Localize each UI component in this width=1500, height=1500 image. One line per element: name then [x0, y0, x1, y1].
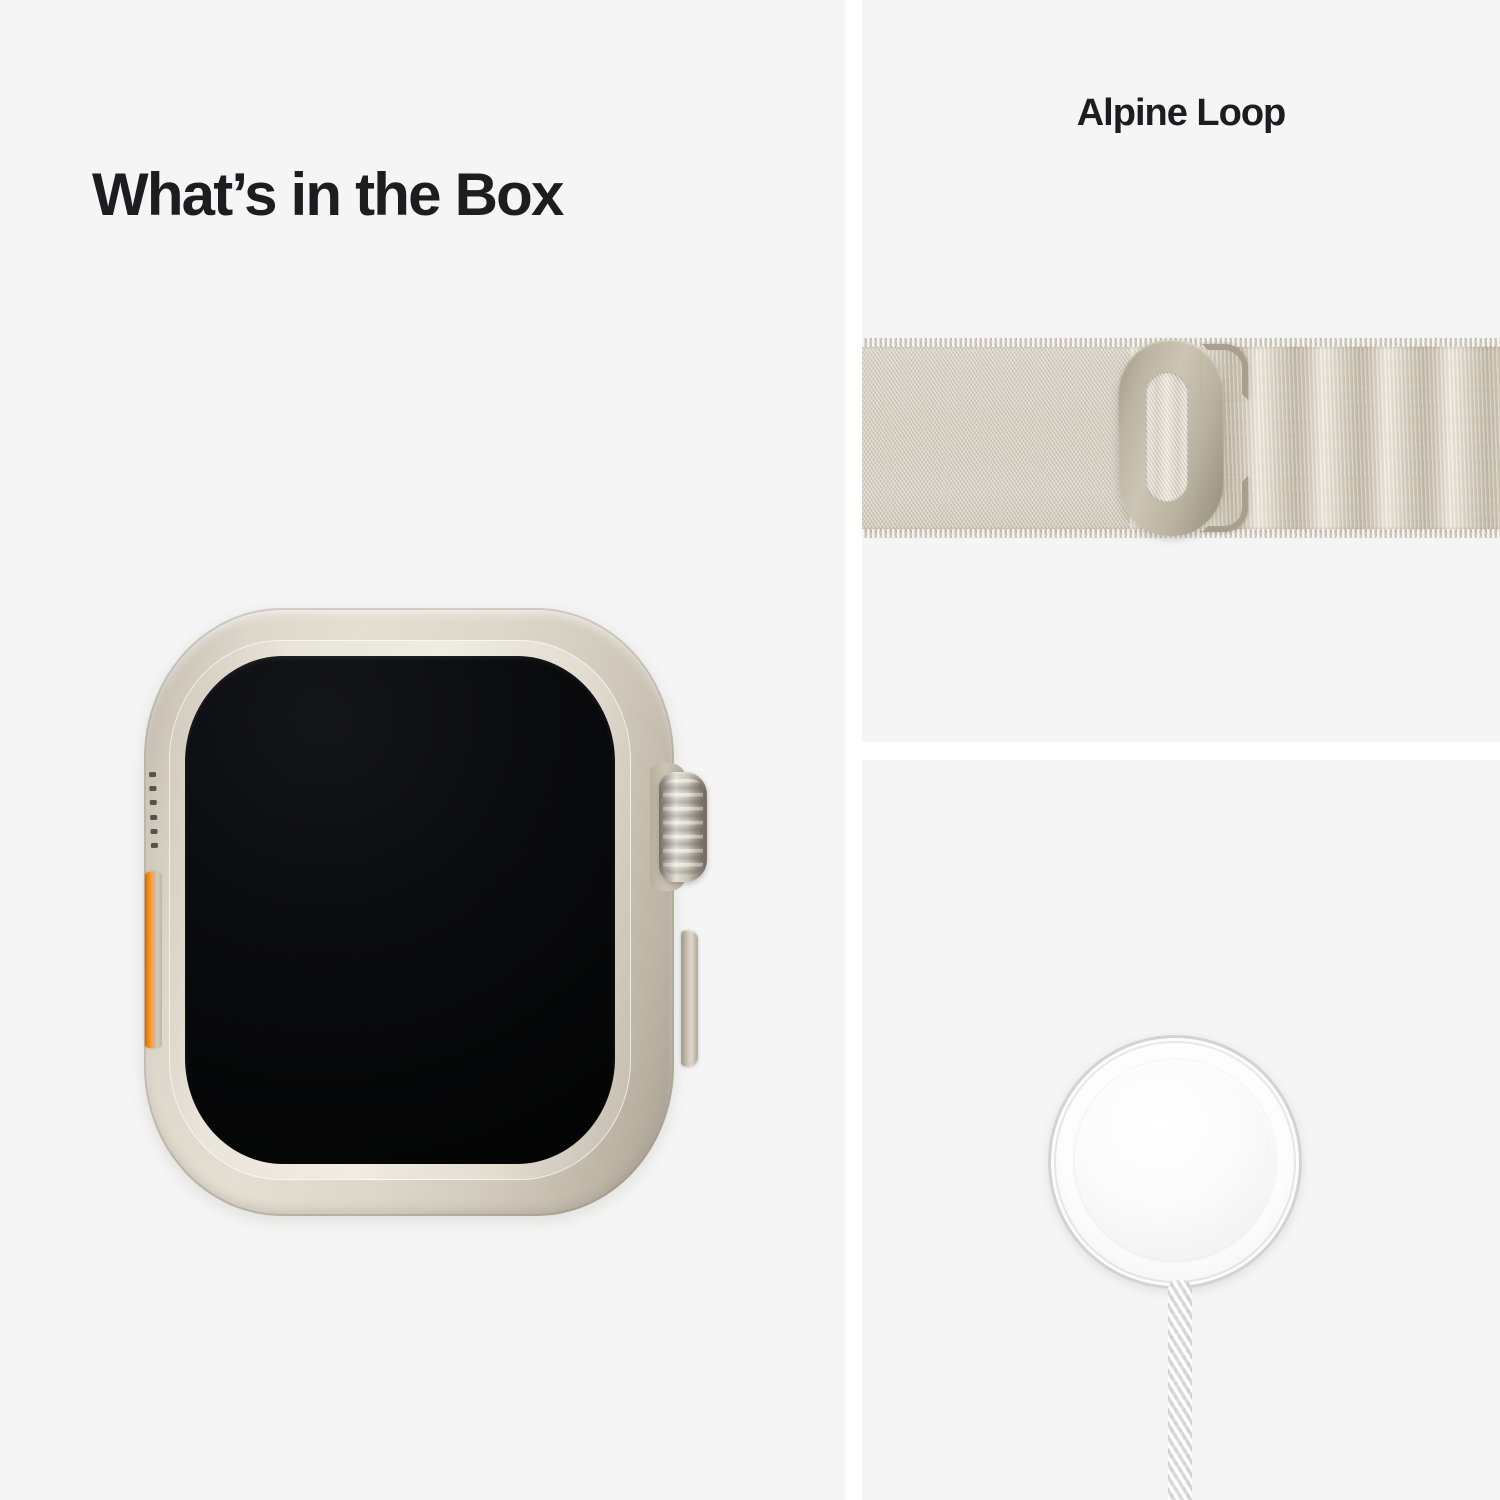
buckle-hook-bottom: [1202, 476, 1248, 532]
panel-watch: What’s in the Box: [0, 0, 845, 1500]
speaker-hole: [151, 843, 158, 848]
speaker-hole: [150, 814, 157, 819]
speaker-hole: [150, 829, 157, 834]
speaker-grille-icon: [146, 772, 161, 848]
action-button[interactable]: [145, 872, 157, 1048]
alpine-loop-band: [862, 338, 1500, 538]
digital-crown-highlight: [659, 772, 707, 882]
digital-crown[interactable]: [659, 772, 707, 882]
speaker-hole: [150, 800, 157, 805]
braided-cable: [1168, 1280, 1192, 1500]
page-title: What’s in the Box: [92, 160, 563, 229]
panel-charging-cable: USB-C Magnetic Fast Charging Cable: [862, 760, 1500, 1500]
whats-in-the-box-product-image: What’s in the Box: [0, 0, 1500, 1500]
apple-watch-ultra: [138, 600, 708, 1225]
buckle-window: [1146, 372, 1188, 502]
alpine-loop-title: Alpine Loop: [862, 92, 1500, 135]
speaker-hole: [149, 786, 156, 791]
charging-puck: [1048, 1035, 1302, 1289]
usb-c-magnetic-fast-charging-cable: [862, 760, 1500, 1500]
panel-alpine-loop: Alpine Loop: [862, 0, 1500, 742]
speaker-hole: [149, 772, 156, 777]
watch-display: [185, 656, 615, 1164]
charging-puck-disc: [1075, 1060, 1275, 1260]
g-hook-buckle: [1118, 338, 1240, 538]
buckle-hook-top: [1202, 344, 1248, 400]
side-button[interactable]: [681, 930, 698, 1066]
